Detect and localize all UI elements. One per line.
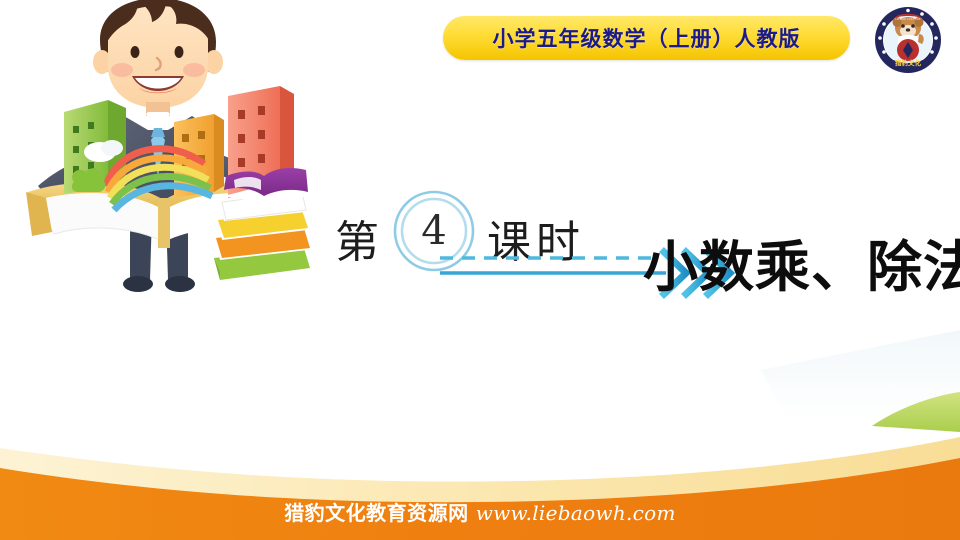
- slide-root: 小学五年级数学（上册）人教版 猎豹文化 LIEBAO CULTURE: [0, 0, 960, 540]
- course-title-text: 小学五年级数学（上册）人教版: [493, 23, 801, 53]
- footer-url: www.liebaowh.com: [476, 501, 676, 525]
- lesson-main-title: 小数乘、除法: [643, 222, 960, 302]
- footer-watermark: 猎豹文化教育资源网www.liebaowh.com: [0, 503, 960, 523]
- svg-text:猎豹文化: 猎豹文化: [895, 58, 922, 67]
- boy-with-open-book-illustration: [18, 0, 318, 300]
- lesson-prefix-label: 第: [335, 206, 379, 270]
- course-title-badge: 小学五年级数学（上册）人教版: [443, 16, 850, 60]
- leopard-mascot-badge-logo: 猎豹文化 LIEBAO CULTURE: [872, 4, 944, 76]
- footer-site-name: 猎豹文化教育资源网: [284, 501, 469, 525]
- svg-text:LIEBAO CULTURE: LIEBAO CULTURE: [895, 17, 920, 21]
- lesson-heading-row: 第 4 课时 小数乘、除法: [335, 186, 950, 306]
